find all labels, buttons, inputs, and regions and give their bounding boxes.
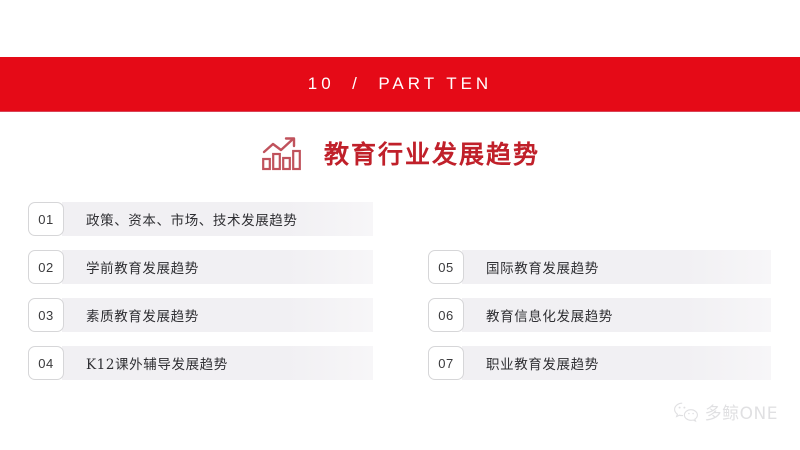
section-title-row: 教育行业发展趋势: [0, 128, 800, 178]
list-item-label: 职业教育发展趋势: [486, 353, 599, 373]
list-item-number: 04: [28, 346, 64, 380]
list-item-bar: K12课外辅导发展趋势: [62, 346, 373, 380]
list-item-label: 政策、资本、市场、技术发展趋势: [86, 209, 298, 229]
page-title: 教育行业发展趋势: [324, 135, 540, 171]
list-item-bar: 素质教育发展趋势: [62, 298, 373, 332]
section-banner: 10 / PART TEN: [0, 57, 800, 112]
list-item-label: 国际教育发展趋势: [486, 257, 599, 277]
list-item-number: 01: [28, 202, 64, 236]
wechat-logo-icon: [673, 401, 699, 423]
list-item[interactable]: 07 职业教育发展趋势: [428, 346, 771, 380]
list-item[interactable]: 02 学前教育发展趋势: [28, 250, 373, 284]
list-item-bar: 学前教育发展趋势: [62, 250, 373, 284]
list-item-label: 教育信息化发展趋势: [486, 305, 613, 325]
bar-chart-growth-icon: [260, 134, 302, 172]
list-item-number: 03: [28, 298, 64, 332]
list-item-bar: 教育信息化发展趋势: [462, 298, 771, 332]
list-item-label: 学前教育发展趋势: [86, 257, 199, 277]
slide-canvas: 10 / PART TEN 教育行业发展趋势 01 政策、资本、市场、技术发展趋…: [0, 0, 800, 450]
list-item[interactable]: 04 K12课外辅导发展趋势: [28, 346, 373, 380]
agenda-list-left: 01 政策、资本、市场、技术发展趋势 02 学前教育发展趋势 03 素质教育发展…: [28, 202, 373, 380]
list-item-bar: 政策、资本、市场、技术发展趋势: [62, 202, 373, 236]
list-item-label: 素质教育发展趋势: [86, 305, 199, 325]
banner-part-label: 10 / PART TEN: [308, 74, 492, 94]
list-item-bar: 职业教育发展趋势: [462, 346, 771, 380]
watermark-label: 多鲸ONE: [705, 399, 778, 424]
watermark: 多鲸ONE: [673, 399, 778, 424]
list-item[interactable]: 01 政策、资本、市场、技术发展趋势: [28, 202, 373, 236]
list-item-number: 05: [428, 250, 464, 284]
list-item-number: 07: [428, 346, 464, 380]
list-item[interactable]: 05 国际教育发展趋势: [428, 250, 771, 284]
list-item-label: K12课外辅导发展趋势: [86, 353, 228, 373]
list-item[interactable]: 03 素质教育发展趋势: [28, 298, 373, 332]
list-item-number: 06: [428, 298, 464, 332]
list-item-number: 02: [28, 250, 64, 284]
agenda-list-right: 05 国际教育发展趋势 06 教育信息化发展趋势 07 职业教育发展趋势: [428, 250, 771, 380]
list-item-bar: 国际教育发展趋势: [462, 250, 771, 284]
list-item[interactable]: 06 教育信息化发展趋势: [428, 298, 771, 332]
